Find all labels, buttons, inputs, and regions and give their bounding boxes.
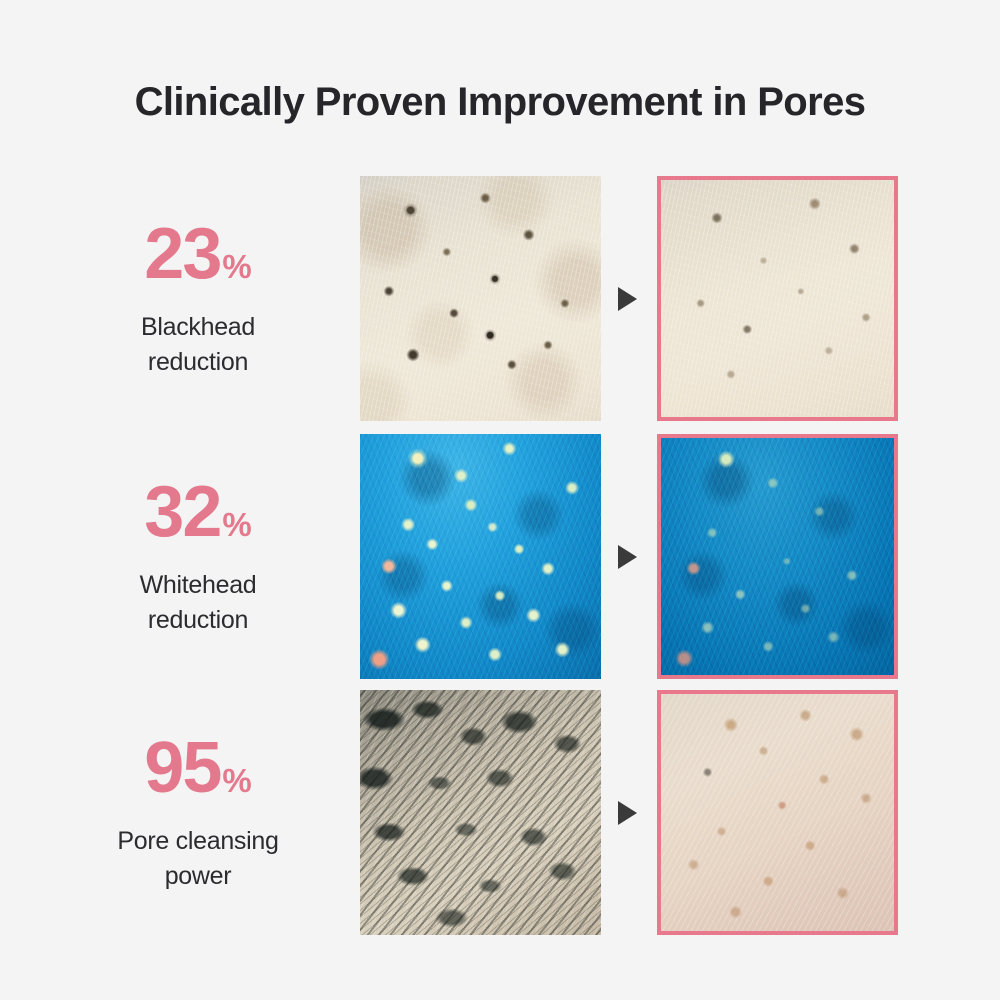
percent-sign: % bbox=[222, 250, 251, 283]
stat-row-pore-cleansing: 95 % Pore cleansing power bbox=[0, 690, 1000, 935]
before-photo-whitehead bbox=[360, 434, 601, 679]
stat-value-group: 32 % bbox=[144, 476, 251, 548]
stat-label-line-1: Whitehead bbox=[140, 568, 257, 603]
whitehead-spots-layer bbox=[661, 438, 894, 675]
stat-label-line-1: Pore cleansing bbox=[117, 824, 278, 859]
page-title: Clinically Proven Improvement in Pores bbox=[0, 78, 1000, 126]
before-photo-blackhead bbox=[360, 176, 601, 421]
stat-block-whitehead: 32 % Whitehead reduction bbox=[78, 434, 318, 679]
stat-row-blackhead: 23 % Blackhead reduction bbox=[0, 176, 1000, 421]
percent-sign: % bbox=[222, 764, 251, 797]
stat-label-line-2: power bbox=[117, 859, 278, 894]
stat-label: Pore cleansing power bbox=[117, 824, 278, 893]
progress-arrow-icon bbox=[618, 545, 637, 569]
stat-label-line-1: Blackhead bbox=[141, 310, 255, 345]
stat-block-pore-cleansing: 95 % Pore cleansing power bbox=[78, 690, 318, 935]
before-photo-pore-debris bbox=[360, 690, 601, 935]
photo-canvas bbox=[661, 694, 894, 931]
after-photo-whitehead bbox=[657, 434, 898, 679]
photo-canvas bbox=[360, 434, 601, 679]
stat-label-line-2: reduction bbox=[141, 345, 255, 380]
percent-sign: % bbox=[222, 508, 251, 541]
blackhead-dots-layer bbox=[360, 176, 601, 421]
stat-label: Whitehead reduction bbox=[140, 568, 257, 637]
photo-canvas bbox=[661, 438, 894, 675]
stat-number: 32 bbox=[144, 476, 220, 548]
progress-arrow-icon bbox=[618, 801, 637, 825]
stat-label-line-2: reduction bbox=[140, 603, 257, 638]
photo-canvas bbox=[661, 180, 894, 417]
whitehead-spots-layer bbox=[360, 434, 601, 679]
stat-label: Blackhead reduction bbox=[141, 310, 255, 379]
pore-improvement-infographic: Clinically Proven Improvement in Pores 2… bbox=[0, 0, 1000, 1000]
stat-value-group: 95 % bbox=[144, 732, 251, 804]
stat-number: 23 bbox=[144, 218, 220, 290]
after-photo-blackhead bbox=[657, 176, 898, 421]
stat-number: 95 bbox=[144, 732, 220, 804]
debris-blobs-layer bbox=[360, 690, 601, 935]
stat-row-whitehead: 32 % Whitehead reduction bbox=[0, 434, 1000, 679]
blackhead-dots-layer bbox=[661, 180, 894, 417]
stat-value-group: 23 % bbox=[144, 218, 251, 290]
after-photo-pore-clean bbox=[657, 690, 898, 935]
photo-canvas bbox=[360, 176, 601, 421]
residual-pore-spots-layer bbox=[661, 694, 894, 931]
stat-block-blackhead: 23 % Blackhead reduction bbox=[78, 176, 318, 421]
photo-canvas bbox=[360, 690, 601, 935]
progress-arrow-icon bbox=[618, 287, 637, 311]
